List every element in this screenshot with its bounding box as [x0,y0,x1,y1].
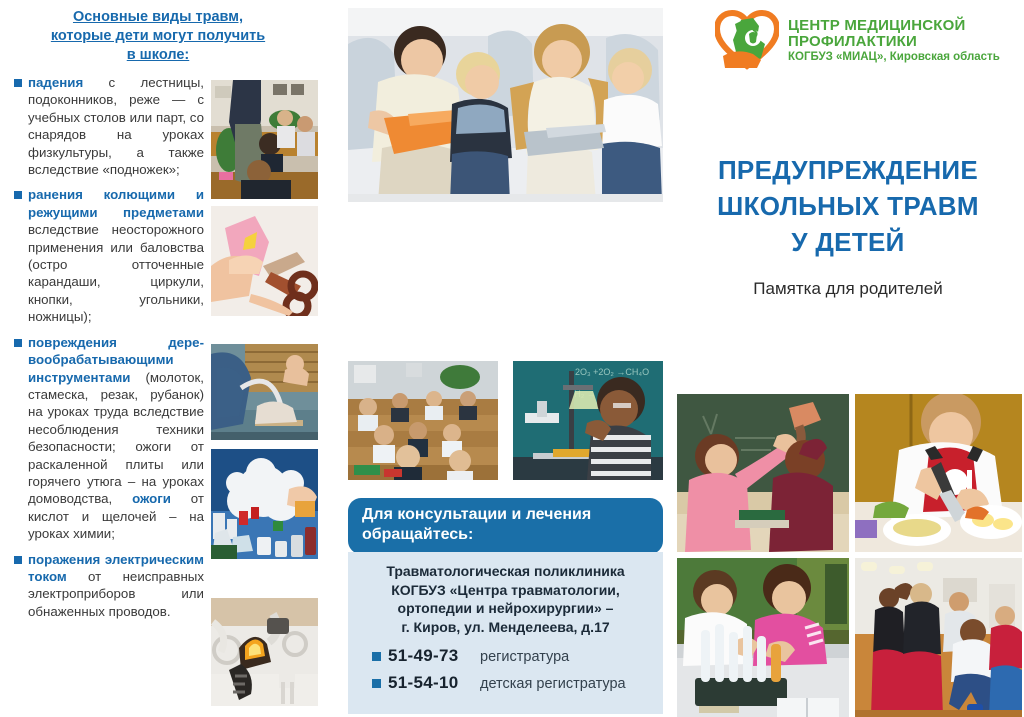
contact-header-line-2: обращайтесь: [362,525,649,545]
logo-line-1: ЦЕНТР МЕДИЦИНСКОЙ [788,18,1000,34]
list-item: поражения электри­ческим током от неиспр… [8,551,204,621]
logo-line-3: КОГБУЗ «МИАЦ», Кировская область [788,52,1000,64]
clinic-address-line-1: Травматологическая поликлиника [358,562,653,581]
list-item: ранения колющими и режущими предмета­ми … [8,186,204,325]
list-item: повреждения дере­вообрабатывающи­ми инст… [8,334,204,543]
photo-child-falling-desk [211,80,318,199]
bullet-lead: ранения колющими и режущими предмета­ми [28,187,204,219]
svg-text:2O₃ +2O₂ →CH₄O: 2O₃ +2O₂ →CH₄O [575,367,649,377]
left-column: Основные виды травм, которые дети могут … [0,0,340,717]
phone-list: 51-49-73 регистратура 51-54-10 детская р… [358,646,653,693]
photo-woodwork-fretsaw [211,344,318,440]
organization-logo: ЦЕНТР МЕДИЦИНСКОЙ ПРОФИЛАКТИКИ КОГБУЗ «М… [715,10,1000,72]
left-heading-line-3: в школе: [127,47,190,63]
photo-burning-electric-plug [211,598,318,706]
logo-line-2: ПРОФИЛАКТИКИ [788,34,1000,50]
page-subtitle: Памятка для родителей [672,279,1024,299]
phone-row[interactable]: 51-54-10 детская регистратура [388,673,653,693]
left-heading-line-2: которые дети могут получить [51,28,265,44]
photo-scissors-paper-hands [211,206,318,316]
contact-card: Для консультации и лечения обращайтесь: … [348,498,663,714]
page-title: ПРЕДУПРЕЖДЕНИЕ ШКОЛЬНЫХ ТРАВМ У ДЕТЕЙ [672,152,1024,260]
phone-label: детская регистратура [480,676,626,692]
clinic-address-line-2: КОГБУЗ «Центра травматологии, [358,581,653,600]
left-heading: Основные виды травм, которые дети могут … [8,8,308,65]
brochure-page: Основные виды травм, которые дети могут … [0,0,1024,717]
bullet-rest: с лестницы, подоконников, реже — с учебн… [28,75,204,177]
clinic-address: Травматологическая поликлиника КОГБУЗ «Ц… [358,562,653,636]
phone-row[interactable]: 51-49-73 регистратура [388,646,653,666]
photo-pe-class-gym [855,558,1022,717]
contact-header-line-1: Для консультации и лечения [362,505,649,525]
photo-chemistry-lab-boy: 2O₃ +2O₂ →CH₄O +H₂ → 2CH₃ [513,361,663,480]
heart-hand-map-icon [715,10,779,72]
photo-chemistry-smoke [211,449,318,559]
page-title-line-3: У ДЕТЕЙ [672,224,1024,260]
clinic-address-line-4: г. Киров, ул. Менделеева, д.17 [358,618,653,637]
middle-column: Основная мера предупреждения травм в шко… [340,0,672,717]
page-title-line-1: ПРЕДУПРЕЖДЕНИЕ [672,152,1024,188]
contact-card-header: Для консультации и лечения обращайтесь: [348,498,663,554]
photo-girls-chemistry-testtubes [677,558,849,717]
bullet-mid-accent: ожоги [132,491,171,506]
phone-label: регистратура [480,649,569,665]
list-item: падения с лестницы, подоконников, реже —… [8,74,204,178]
contact-card-body: Травматологическая поликлиника КОГБУЗ «Ц… [348,552,663,714]
phone-number[interactable]: 51-49-73 [388,646,480,666]
phone-number[interactable]: 51-54-10 [388,673,480,693]
bullet-rest: (молоток, стамеска, резак, рубанок) на у… [28,370,204,507]
clinic-address-line-3: ортопедии и нейрохирургии» – [358,599,653,618]
page-title-line-2: ШКОЛЬНЫХ ТРАВМ [672,188,1024,224]
right-column: ЦЕНТР МЕДИЦИНСКОЙ ПРОФИЛАКТИКИ КОГБУЗ «М… [672,0,1024,717]
photo-family-reading-sofa [348,8,663,202]
bullet-rest: вследствие неосторожного применения или … [28,222,204,324]
photo-classroom-pupils [348,361,498,480]
bullet-lead: падения [28,75,83,90]
photo-girl-cutting-knife-apron [855,394,1022,552]
left-heading-line-1: Основные виды травм, [73,9,243,25]
photo-girls-fighting-blackboard [677,394,849,552]
